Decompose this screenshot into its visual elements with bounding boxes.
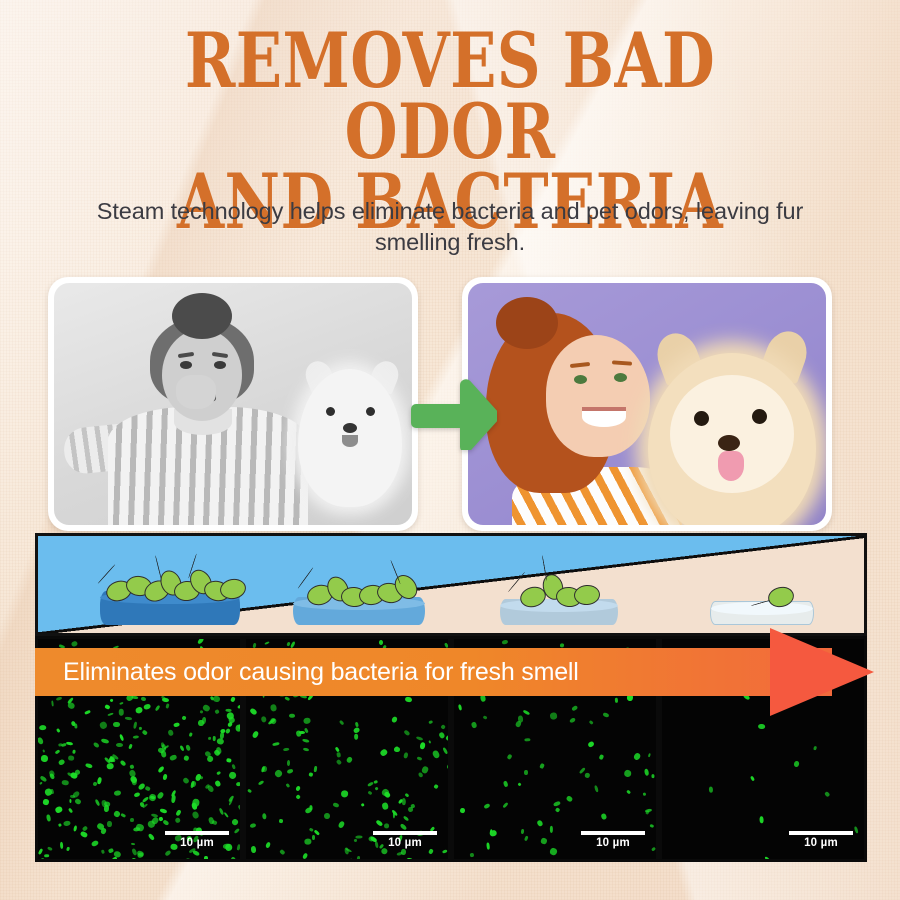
before-dog-mouth xyxy=(342,435,358,447)
before-dog-eye-left xyxy=(326,407,335,416)
flagellum xyxy=(508,572,525,593)
bacteria-stage-4 xyxy=(710,583,814,625)
after-woman-smile xyxy=(582,407,626,427)
scale-bar: 10 µm xyxy=(372,831,438,849)
after-dog-eye-right xyxy=(752,409,767,424)
before-dog-nose xyxy=(343,423,357,433)
after-dog-tongue xyxy=(718,451,744,481)
scale-bar-line xyxy=(165,831,229,835)
before-woman-eye-left xyxy=(180,361,192,369)
before-dog-eye-right xyxy=(366,407,375,416)
scale-bar: 10 µm xyxy=(580,831,646,849)
after-photo xyxy=(468,283,826,525)
scale-bar-line xyxy=(789,831,853,835)
bacteria-stage-2 xyxy=(293,569,425,625)
before-woman-hand-pinching-nose xyxy=(176,375,216,409)
scale-bar-label: 10 µm xyxy=(804,837,838,849)
scale-bar: 10 µm xyxy=(788,831,854,849)
after-dog-nose xyxy=(718,435,740,451)
after-image-card xyxy=(462,277,832,531)
before-woman-eye-right xyxy=(214,361,226,369)
flagellum xyxy=(97,564,115,584)
flagellum xyxy=(297,567,313,589)
after-woman-eye-right xyxy=(614,373,627,382)
bacteria-reduction-diagram xyxy=(35,533,867,636)
scale-bar-line xyxy=(373,831,437,835)
after-woman-face xyxy=(546,335,650,457)
scale-bar: 10 µm xyxy=(164,831,230,849)
bacteria-stage-1 xyxy=(100,563,240,625)
right-arrow-icon xyxy=(770,624,880,720)
after-dog-eye-left xyxy=(694,411,709,426)
after-woman-eye-left xyxy=(574,375,587,384)
scale-bar-label: 10 µm xyxy=(180,837,214,849)
before-photo xyxy=(54,283,412,525)
feature-banner-label: Eliminates odor causing bacteria for fre… xyxy=(35,658,579,687)
right-arrow-icon xyxy=(411,378,497,450)
subtitle: Steam technology helps eliminate bacteri… xyxy=(95,196,805,259)
before-woman-hair-bun xyxy=(172,293,232,339)
after-woman-hair-bun xyxy=(496,297,558,349)
scale-bar-label: 10 µm xyxy=(596,837,630,849)
bacteria-stage-3 xyxy=(500,573,618,625)
feature-banner: Eliminates odor causing bacteria for fre… xyxy=(35,648,832,696)
before-image-card xyxy=(48,277,418,531)
stage-4-dish xyxy=(710,601,814,625)
scale-bar-label: 10 µm xyxy=(388,837,422,849)
headline-line-1: REMOVES BAD ODOR xyxy=(185,16,715,176)
stage-4-dish-rim xyxy=(711,602,813,615)
scale-bar-line xyxy=(581,831,645,835)
